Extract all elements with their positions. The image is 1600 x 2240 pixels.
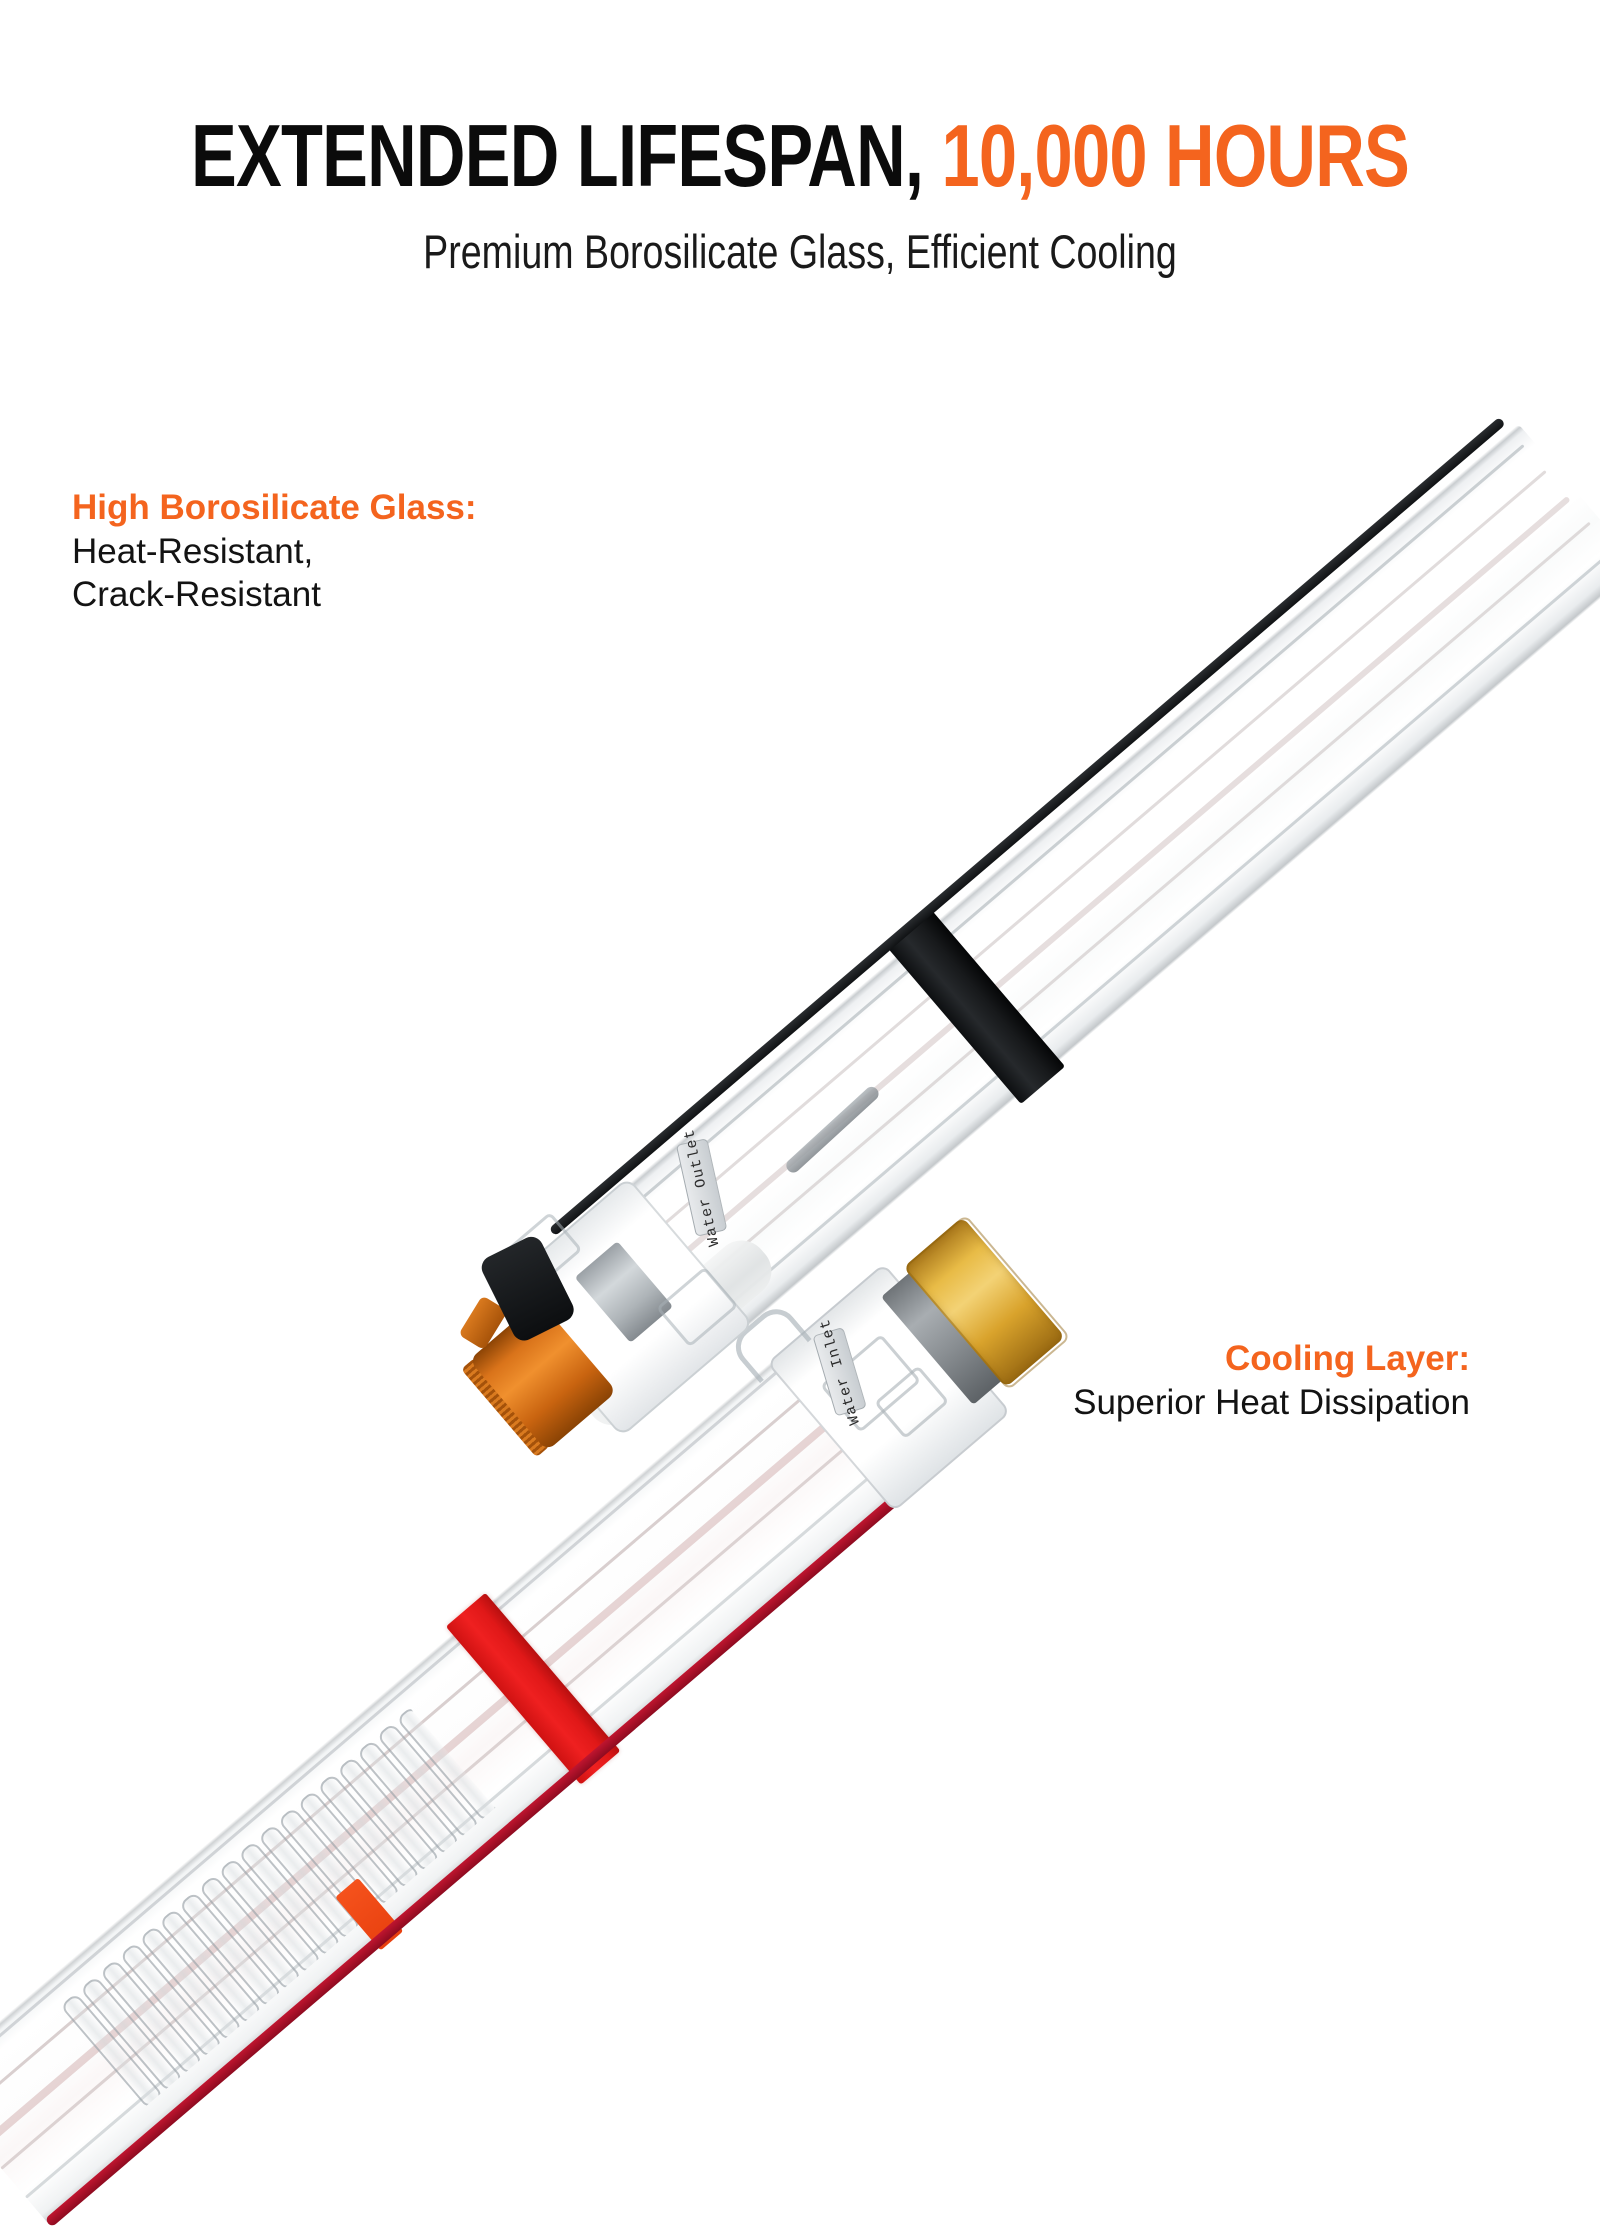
tube-edge-highlight [603, 444, 1525, 1232]
glass-spiral-coil [60, 1707, 496, 2106]
page-subheadline: Premium Borosilicate Glass, Efficient Co… [160, 228, 1440, 275]
callout-high-borosilicate-glass: High Borosilicate Glass: Heat-Resistant,… [72, 487, 477, 616]
callout-right-line-1: Superior Heat Dissipation [1073, 1381, 1470, 1424]
inner-tube-line [625, 470, 1547, 1258]
red-high-voltage-wire [45, 1430, 976, 2227]
callout-left-line-2: Crack-Resistant [72, 573, 477, 616]
callout-left-title: High Borosilicate Glass: [72, 487, 477, 530]
laser-tube-lower: Water Outlet [492, 421, 1600, 1444]
inner-tube-line [669, 522, 1591, 1310]
callout-cooling-layer: Cooling Layer: Superior Heat Dissipation [1073, 1338, 1470, 1424]
page-headline: EXTENDED LIFESPAN, 10,000 HOURS [176, 112, 1424, 200]
callout-left-line-1: Heat-Resistant, [72, 530, 477, 573]
headline-black-text: EXTENDED LIFESPAN, [191, 106, 923, 205]
inner-discharge-tube [647, 496, 1571, 1286]
callout-right-title: Cooling Layer: [1073, 1338, 1470, 1381]
black-high-voltage-wire [549, 417, 1506, 1236]
headline-orange-text: 10,000 HOURS [941, 106, 1409, 205]
